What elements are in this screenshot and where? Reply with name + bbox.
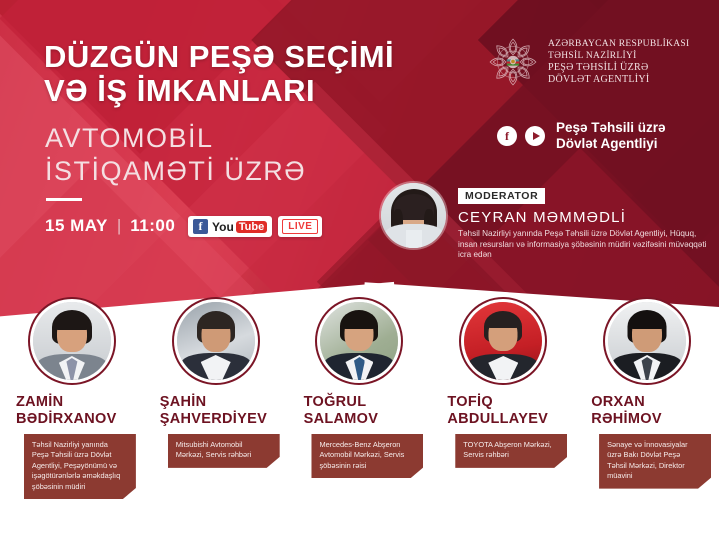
speaker-avatar bbox=[177, 302, 255, 380]
speaker-name: TOFİQ ABDULLAYEV bbox=[431, 394, 575, 428]
subtitle: AVTOMOBİL İSTİQAMƏTİ ÜZRƏ bbox=[45, 122, 375, 188]
speaker-card: ORXAN RƏHİMOV Sənaye və İnnovasiyalar üz… bbox=[575, 302, 719, 499]
date-separator: | bbox=[117, 216, 121, 236]
speaker-first-name: ŞAHİN bbox=[160, 394, 288, 411]
event-time: 11:00 bbox=[130, 216, 175, 236]
speaker-first-name: TOFİQ bbox=[447, 394, 575, 411]
agency-name-line-1: Peşə Təhsili üzrə bbox=[556, 120, 666, 136]
event-date: 15 MAY bbox=[45, 216, 108, 236]
speaker-card: TOĞRUL SALAMOV Mercedes-Benz Abşeron Avt… bbox=[288, 302, 432, 499]
webinar-poster: DÜZGÜN PEŞƏ SEÇİMİ VƏ İŞ İMKANLARI AVTOM… bbox=[0, 0, 719, 540]
facebook-circle-icon[interactable]: f bbox=[497, 126, 517, 146]
youtube-circle-icon[interactable] bbox=[525, 126, 545, 146]
ministry-line-2: TƏHSİL NAZİRLİYİ bbox=[548, 50, 689, 62]
speaker-role: Mercedes-Benz Abşeron Avtomobil Mərkəzi,… bbox=[311, 434, 423, 478]
speaker-first-name: ZAMİN bbox=[16, 394, 144, 411]
speaker-name: ZAMİN BƏDİRXANOV bbox=[0, 394, 144, 428]
agency-name: Peşə Təhsili üzrə Dövlət Agentliyi bbox=[556, 120, 666, 152]
speaker-role: Təhsil Nazirliyi yanında Peşə Təhsili üz… bbox=[24, 434, 136, 499]
agency-name-line-2: Dövlət Agentliyi bbox=[556, 136, 666, 152]
speaker-avatar bbox=[320, 302, 398, 380]
ministry-line-1: AZƏRBAYCAN RESPUBLİKASI bbox=[548, 38, 689, 50]
speaker-card: TOFİQ ABDULLAYEV TOYOTA Abşeron Mərkəzi,… bbox=[431, 302, 575, 499]
speaker-last-name: SALAMOV bbox=[304, 411, 432, 428]
azerbaijan-ministry-emblem-icon bbox=[487, 36, 539, 88]
speaker-name: TOĞRUL SALAMOV bbox=[288, 394, 432, 428]
facebook-glyph: f bbox=[505, 130, 509, 142]
speaker-first-name: ORXAN bbox=[591, 394, 719, 411]
moderator-avatar bbox=[381, 183, 446, 248]
speaker-avatar bbox=[33, 302, 111, 380]
speaker-card: ZAMİN BƏDİRXANOV Təhsil Nazirliyi yanınd… bbox=[0, 302, 144, 499]
moderator-description: Təhsil Nazirliyi yanında Peşə Təhsili üz… bbox=[458, 229, 708, 261]
speaker-card: ŞAHİN ŞAHVERDİYEV Mitsubishi Avtomobil M… bbox=[144, 302, 288, 499]
speaker-avatar bbox=[608, 302, 686, 380]
broadcast-channels: f You Tube LIVE bbox=[188, 216, 322, 237]
moderator-info: MODERATOR CEYRAN MƏMMƏDLİ Təhsil Nazirli… bbox=[458, 183, 708, 261]
youtube-icon: You Tube bbox=[212, 220, 267, 234]
speaker-avatar bbox=[464, 302, 542, 380]
youtube-tube-text: Tube bbox=[236, 221, 267, 233]
date-time-row: 15 MAY | 11:00 bbox=[45, 216, 175, 236]
speaker-last-name: BƏDİRXANOV bbox=[16, 411, 144, 428]
speaker-role: Mitsubishi Avtomobil Mərkəzi, Servis rəh… bbox=[168, 434, 280, 468]
live-label: LIVE bbox=[282, 219, 318, 234]
divider-rule bbox=[46, 198, 82, 201]
moderator-name: CEYRAN MƏMMƏDLİ bbox=[458, 209, 708, 226]
speaker-name: ŞAHİN ŞAHVERDİYEV bbox=[144, 394, 288, 428]
ministry-logo-block: AZƏRBAYCAN RESPUBLİKASI TƏHSİL NAZİRLİYİ… bbox=[487, 36, 689, 88]
ministry-name: AZƏRBAYCAN RESPUBLİKASI TƏHSİL NAZİRLİYİ… bbox=[548, 38, 689, 86]
speaker-last-name: ABDULLAYEV bbox=[447, 411, 575, 428]
subtitle-line-2: İSTİQAMƏTİ ÜZRƏ bbox=[45, 155, 375, 188]
speaker-first-name: TOĞRUL bbox=[304, 394, 432, 411]
subtitle-line-1: AVTOMOBİL bbox=[45, 122, 375, 155]
facebook-icon: f bbox=[193, 219, 208, 234]
ministry-line-4: DÖVLƏT AGENTLİYİ bbox=[548, 74, 689, 86]
speaker-role: Sənaye və İnnovasiyalar üzrə Bakı Dövlət… bbox=[599, 434, 711, 489]
speaker-last-name: RƏHİMOV bbox=[591, 411, 719, 428]
facebook-youtube-badge[interactable]: f You Tube bbox=[188, 216, 272, 237]
youtube-you-text: You bbox=[212, 220, 234, 234]
headline-line-2: VƏ İŞ İMKANLARI bbox=[44, 74, 474, 108]
speaker-role: TOYOTA Abşeron Mərkəzi, Servis rəhbəri bbox=[455, 434, 567, 468]
agency-social-block: f Peşə Təhsili üzrə Dövlət Agentliyi bbox=[497, 120, 666, 152]
moderator-badge: MODERATOR bbox=[458, 188, 545, 204]
headline: DÜZGÜN PEŞƏ SEÇİMİ VƏ İŞ İMKANLARI bbox=[44, 40, 474, 108]
ministry-line-3: PEŞƏ TƏHSİLİ ÜZRƏ bbox=[548, 62, 689, 74]
moderator-block: MODERATOR CEYRAN MƏMMƏDLİ Təhsil Nazirli… bbox=[381, 183, 708, 261]
live-badge: LIVE bbox=[278, 216, 322, 237]
headline-line-1: DÜZGÜN PEŞƏ SEÇİMİ bbox=[44, 40, 474, 74]
speaker-name: ORXAN RƏHİMOV bbox=[575, 394, 719, 428]
speaker-last-name: ŞAHVERDİYEV bbox=[160, 411, 288, 428]
speakers-row: ZAMİN BƏDİRXANOV Təhsil Nazirliyi yanınd… bbox=[0, 302, 719, 499]
youtube-play-glyph bbox=[533, 132, 540, 140]
